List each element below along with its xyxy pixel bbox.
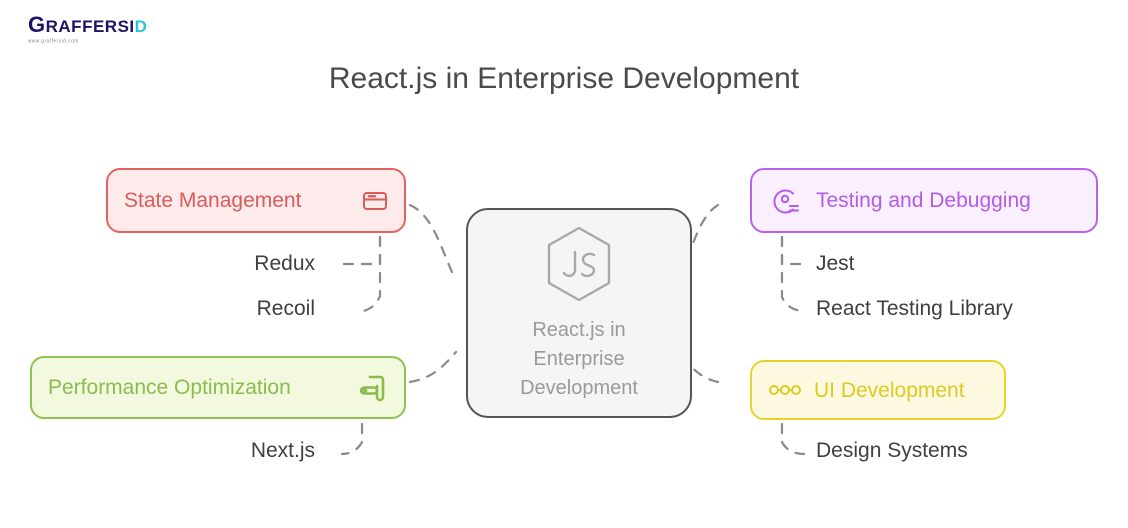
leaf-react-testing-library[interactable]: React Testing Library <box>816 297 1013 321</box>
connector-center-state <box>410 205 452 272</box>
leaf-jest[interactable]: Jest <box>816 252 855 276</box>
branch-label-ui-development: UI Development <box>814 380 965 401</box>
card-stack-icon <box>362 190 388 212</box>
js-hexagon-icon <box>542 224 616 304</box>
branch-node-performance-optimization[interactable]: Performance Optimization <box>30 356 406 419</box>
disc-lines-icon <box>768 184 802 218</box>
branch-node-state-management[interactable]: State Management <box>106 168 406 233</box>
leaf-redux[interactable]: Redux <box>170 252 315 276</box>
central-line-3: Development <box>520 377 638 399</box>
central-line-1: React.js in <box>532 319 625 341</box>
central-node-label: React.js in Enterprise Development <box>520 316 638 403</box>
branch-node-ui-development[interactable]: UI Development <box>750 360 1006 420</box>
central-node[interactable]: React.js in Enterprise Development <box>466 208 692 418</box>
leaf-recoil[interactable]: Recoil <box>170 297 315 321</box>
blocks-arrow-icon <box>356 372 388 404</box>
branch-node-testing-and-debugging[interactable]: Testing and Debugging <box>750 168 1098 233</box>
leaf-nextjs[interactable]: Next.js <box>170 439 315 463</box>
branch-label-performance-optimization: Performance Optimization <box>48 377 291 398</box>
branch-label-testing-and-debugging: Testing and Debugging <box>816 190 1031 211</box>
central-line-2: Enterprise <box>533 348 624 370</box>
branch-label-state-management: State Management <box>124 190 301 211</box>
mindmap-canvas: State Management Testing and Debugging P… <box>0 0 1128 528</box>
three-dots-chain-icon <box>768 383 802 397</box>
leaf-design-systems[interactable]: Design Systems <box>816 439 968 463</box>
